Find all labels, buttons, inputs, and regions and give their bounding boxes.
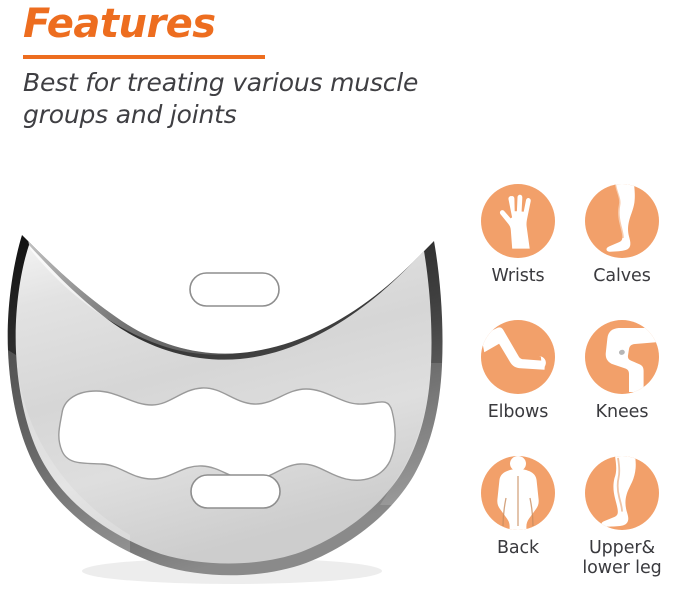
feature-label-elbows: Elbows: [488, 403, 549, 423]
feature-item-back[interactable]: Back: [466, 456, 570, 592]
tool-lower-slot: [191, 475, 280, 508]
product-image: [0, 175, 460, 585]
page-title: Features: [23, 4, 453, 45]
gua-sha-tool-illustration: [0, 175, 460, 585]
feature-icon-grid: Wrists Calves Elbows: [466, 184, 674, 592]
feature-label-knees: Knees: [596, 403, 649, 423]
back-torso-icon: [481, 456, 555, 530]
feature-item-wrists[interactable]: Wrists: [466, 184, 570, 320]
features-header: Features Best for treating various muscl…: [23, 4, 453, 45]
calf-leg-icon: [585, 184, 659, 258]
feature-label-back: Back: [497, 539, 539, 559]
feature-item-knees[interactable]: Knees: [570, 320, 674, 456]
feature-item-upper-lower-leg[interactable]: Upper& lower leg: [570, 456, 674, 592]
feature-label-calves: Calves: [593, 267, 650, 287]
feature-item-calves[interactable]: Calves: [570, 184, 674, 320]
page-subtitle: Best for treating various muscle groups …: [23, 67, 443, 130]
title-underline-rule: [23, 55, 265, 59]
tool-upper-slot: [190, 273, 279, 306]
feature-label-upper-lower-leg: Upper& lower leg: [582, 539, 661, 579]
bent-knee-icon: [585, 320, 659, 394]
feature-item-elbows[interactable]: Elbows: [466, 320, 570, 456]
feature-label-wrists: Wrists: [491, 267, 544, 287]
upper-lower-leg-icon: [585, 456, 659, 530]
wrist-hand-icon: [481, 184, 555, 258]
bent-elbow-icon: [481, 320, 555, 394]
